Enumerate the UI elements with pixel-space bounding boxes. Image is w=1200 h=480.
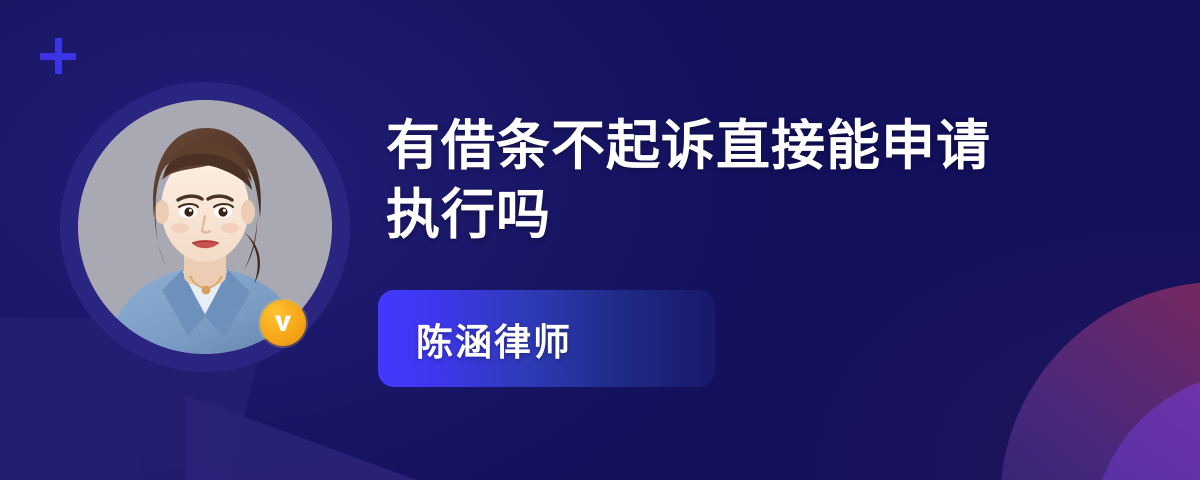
content-column: 有借条不起诉直接能申请 执行吗	[386, 112, 1076, 250]
decorative-triangle	[185, 395, 430, 480]
legal-qa-banner: 有借条不起诉直接能申请 执行吗 陈涵律师	[0, 0, 1200, 480]
verified-badge-icon	[260, 300, 306, 346]
lawyer-name-label: 陈涵律师	[416, 312, 572, 366]
avatar[interactable]	[60, 82, 350, 372]
decorative-blob-outer	[1000, 282, 1200, 480]
lawyer-name-badge[interactable]: 陈涵律师	[378, 290, 715, 387]
plus-icon	[40, 38, 76, 74]
decorative-blob-inner	[1092, 372, 1200, 480]
page-title: 有借条不起诉直接能申请 执行吗	[386, 112, 1076, 250]
